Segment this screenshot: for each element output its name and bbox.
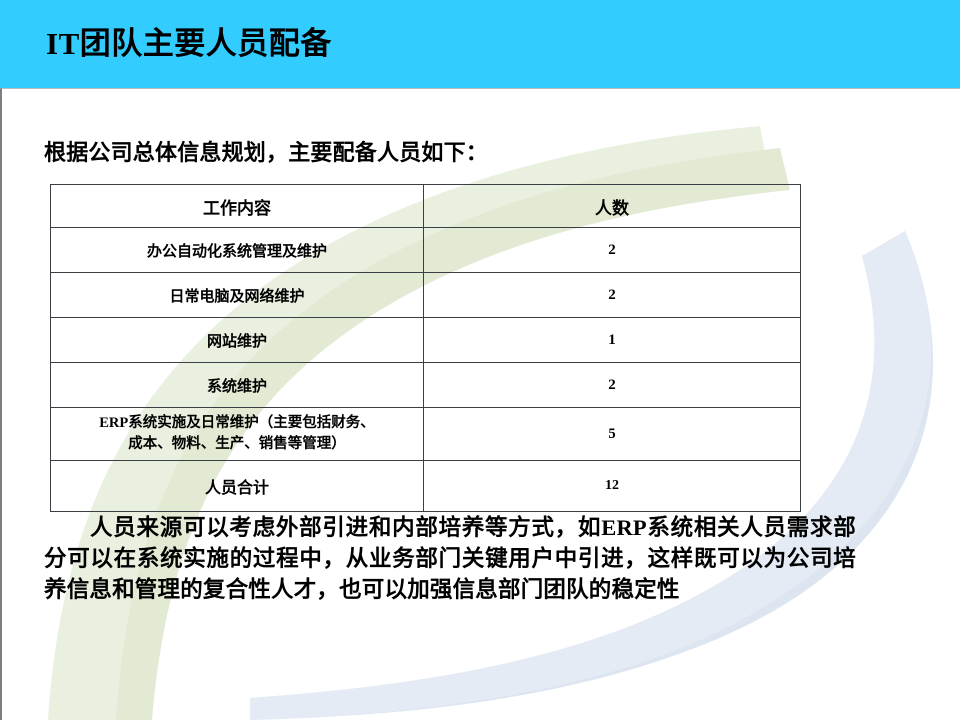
slide-title: IT团队主要人员配备 bbox=[46, 24, 332, 64]
cell-count: 2 bbox=[424, 273, 801, 318]
slide-content: 根据公司总体信息规划，主要配备人员如下： 工作内容 人数 办公自动化系统管理及维… bbox=[0, 88, 960, 720]
column-header-count: 人数 bbox=[424, 185, 801, 228]
cell-task: 系统维护 bbox=[51, 363, 424, 408]
cell-task-erp-line2: 成本、物料、生产、销售等管理） bbox=[57, 434, 417, 455]
cell-task: 网站维护 bbox=[51, 318, 424, 363]
cell-task-erp: ERP系统实施及日常维护（主要包括财务、 成本、物料、生产、销售等管理） bbox=[51, 408, 424, 461]
staffing-table: 工作内容 人数 办公自动化系统管理及维护 2 日常电脑及网络维护 2 网站维护 … bbox=[50, 184, 801, 512]
cell-count: 1 bbox=[424, 318, 801, 363]
table-row: ERP系统实施及日常维护（主要包括财务、 成本、物料、生产、销售等管理） 5 bbox=[51, 408, 801, 461]
presentation-slide: IT团队主要人员配备 根据公司总体信息规划，主要配备人员如下： 工作内容 人数 … bbox=[0, 0, 960, 720]
intro-text: 根据公司总体信息规划，主要配备人员如下： bbox=[44, 135, 488, 167]
table-row: 办公自动化系统管理及维护 2 bbox=[51, 228, 801, 273]
slide-header-band: IT团队主要人员配备 bbox=[0, 0, 960, 88]
table-row: 网站维护 1 bbox=[51, 318, 801, 363]
cell-task-total: 人员合计 bbox=[51, 461, 424, 512]
column-header-task: 工作内容 bbox=[51, 185, 424, 228]
closing-paragraph: 人员来源可以考虑外部引进和内部培养等方式，如ERP系统相关人员需求部分可以在系统… bbox=[44, 512, 856, 605]
table-row: 日常电脑及网络维护 2 bbox=[51, 273, 801, 318]
cell-count: 5 bbox=[424, 408, 801, 461]
table-row-total: 人员合计 12 bbox=[51, 461, 801, 512]
cell-count: 2 bbox=[424, 363, 801, 408]
cell-task: 办公自动化系统管理及维护 bbox=[51, 228, 424, 273]
table-row: 系统维护 2 bbox=[51, 363, 801, 408]
table-header-row: 工作内容 人数 bbox=[51, 185, 801, 228]
cell-task: 日常电脑及网络维护 bbox=[51, 273, 424, 318]
cell-task-erp-line1: ERP系统实施及日常维护（主要包括财务、 bbox=[57, 413, 417, 434]
cell-count-total: 12 bbox=[424, 461, 801, 512]
cell-count: 2 bbox=[424, 228, 801, 273]
